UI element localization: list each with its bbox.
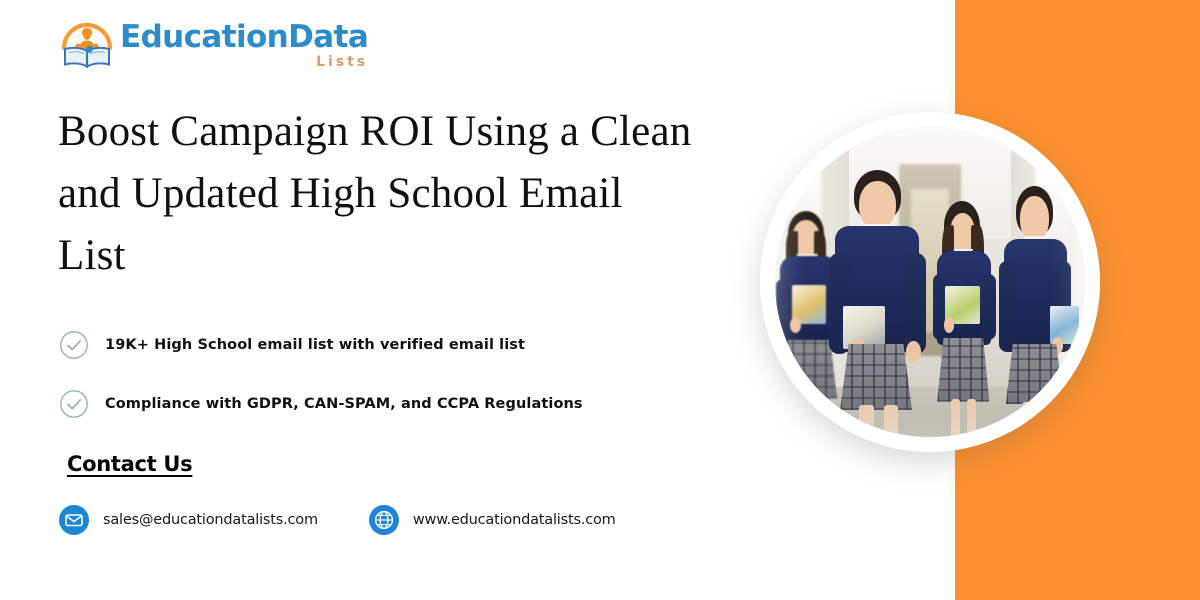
contact-heading: Contact Us	[67, 452, 192, 476]
check-circle-icon	[58, 388, 90, 420]
brand-name-secondary: Lists	[120, 53, 368, 71]
contact-row: sales@educationdatalists.com www.educati…	[58, 504, 616, 536]
contact-email[interactable]: sales@educationdatalists.com	[58, 504, 318, 536]
brand-wordmark: EducationData Lists	[120, 18, 368, 71]
brand-logo[interactable]: EducationData Lists	[58, 18, 368, 76]
content-column: EducationData Lists Boost Campaign ROI U…	[58, 0, 758, 600]
feature-list: 19K+ High School email list with verifie…	[58, 324, 698, 442]
list-item: 19K+ High School email list with verifie…	[58, 324, 698, 366]
promo-banner: EducationData Lists Boost Campaign ROI U…	[0, 0, 1200, 600]
list-item-label: 19K+ High School email list with verifie…	[105, 335, 525, 355]
globe-icon	[368, 504, 400, 536]
list-item-label: Compliance with GDPR, CAN-SPAM, and CCPA…	[105, 394, 583, 414]
hero-photo	[760, 112, 1100, 452]
email-icon	[58, 504, 90, 536]
contact-website-label: www.educationdatalists.com	[413, 512, 616, 528]
check-circle-icon	[58, 329, 90, 361]
contact-website[interactable]: www.educationdatalists.com	[368, 504, 616, 536]
book-person-logo-icon	[58, 18, 116, 72]
list-item: Compliance with GDPR, CAN-SPAM, and CCPA…	[58, 383, 698, 425]
students-photo	[775, 127, 1085, 437]
white-circular-frame	[760, 112, 1100, 452]
page-title: Boost Campaign ROI Using a Clean and Upd…	[58, 101, 698, 287]
contact-email-label: sales@educationdatalists.com	[103, 512, 318, 528]
brand-name-primary: EducationData	[120, 21, 368, 53]
photo-clip	[775, 127, 1085, 437]
